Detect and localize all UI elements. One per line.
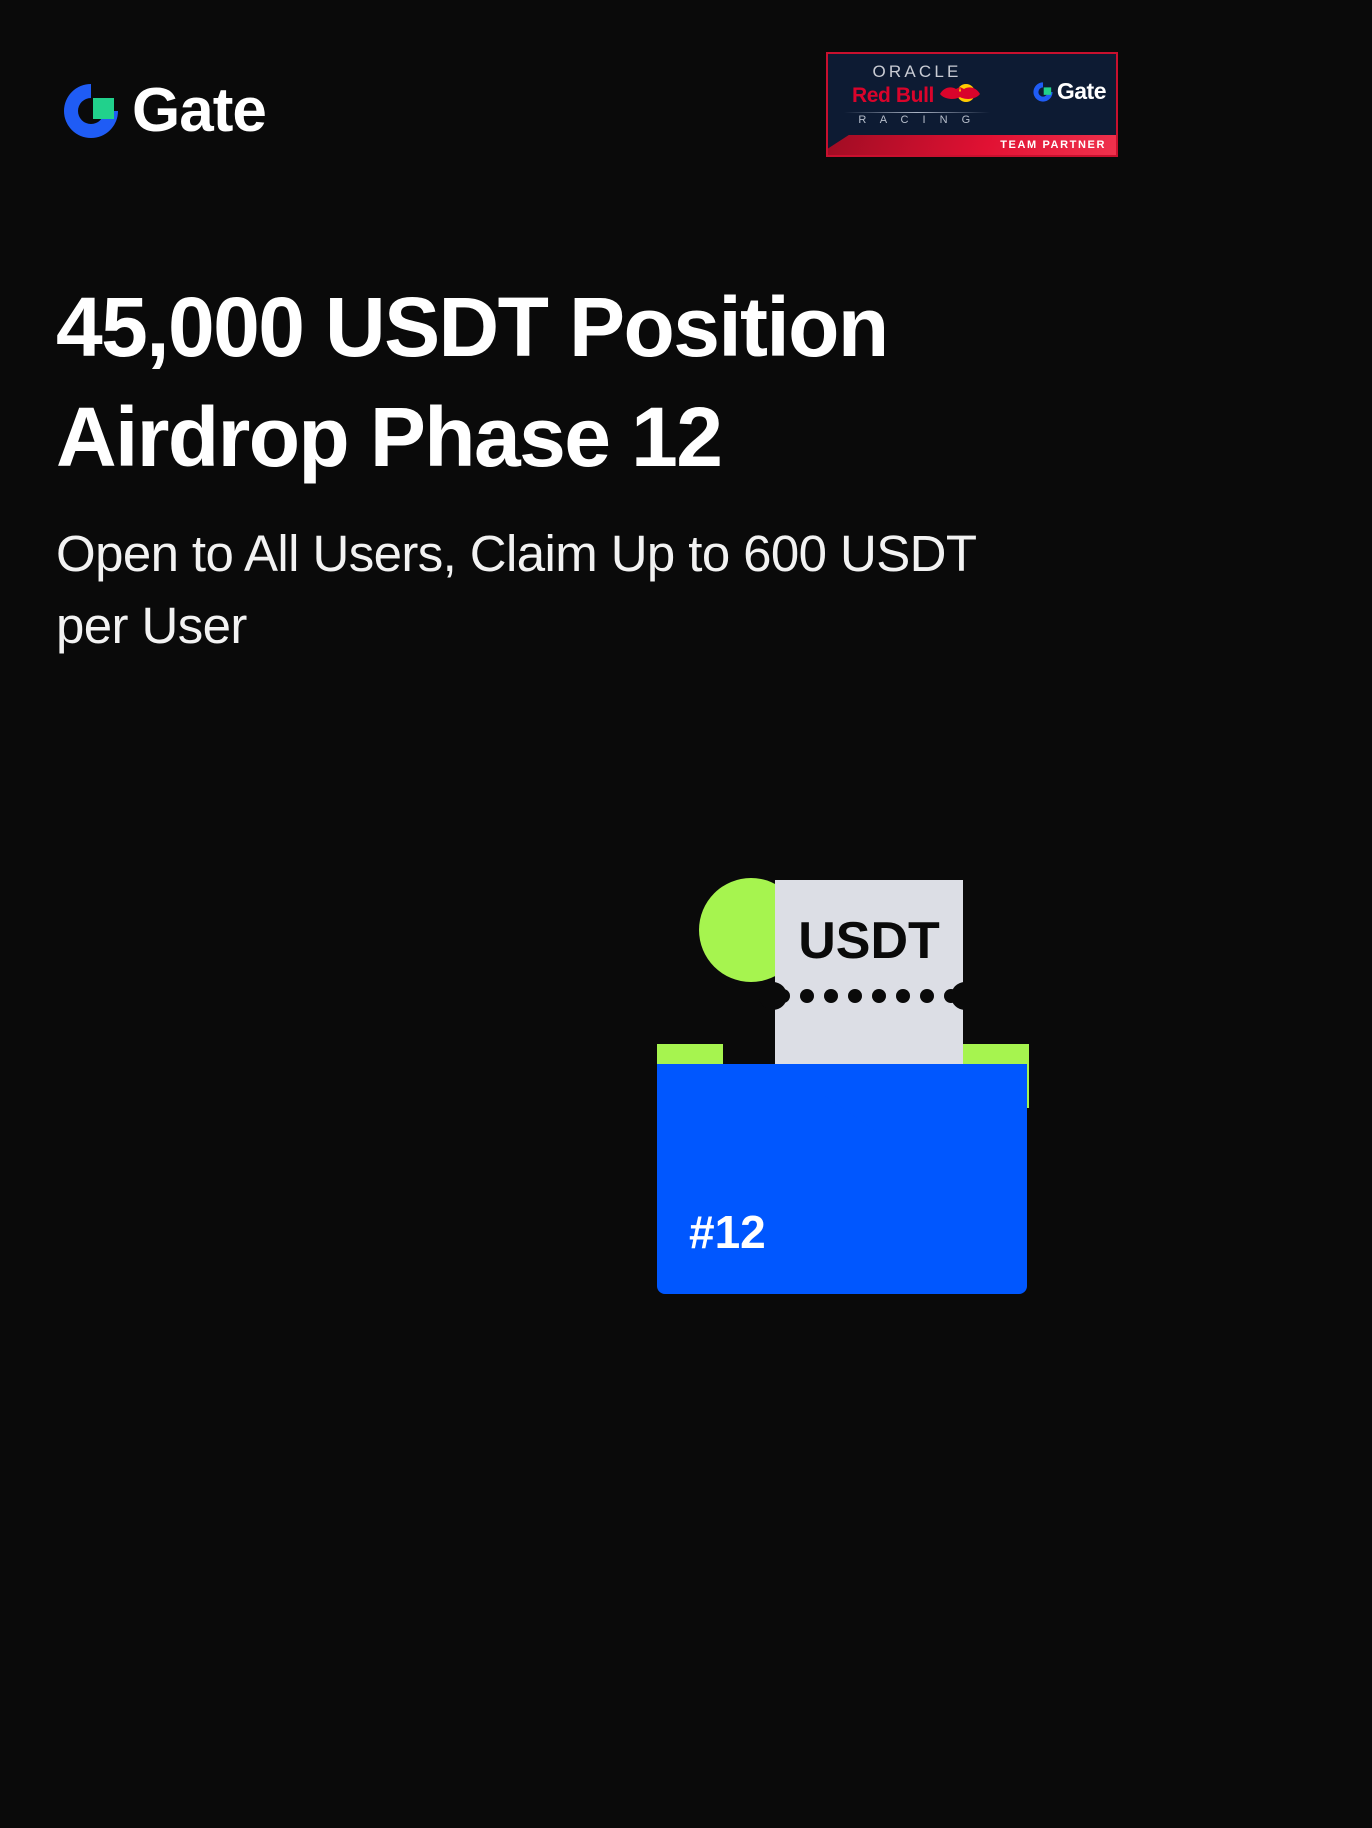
racing-label: R A C I N G [842, 115, 992, 126]
phase-badge-text: #12 [655, 1302, 656, 1303]
badge-divider [844, 112, 990, 113]
badge-gate-wordmark: Gate [1057, 80, 1106, 103]
receipt-label-text: USDT [655, 1302, 656, 1303]
receipt-notch-left [759, 982, 787, 1010]
gate-brand-logo[interactable]: Gate [60, 80, 266, 142]
receipt-notch-right [951, 982, 979, 1010]
gate-wordmark: Gate [132, 80, 266, 142]
red-bull-racing-lockup: ORACLE Red Bull R A C I N G [842, 63, 992, 126]
page-header: Gate ORACLE Red Bull R A C I N G [0, 0, 1372, 200]
page-title: 45,000 USDT Position Airdrop Phase 12 [56, 272, 916, 492]
hero-section: 45,000 USDT Position Airdrop Phase 12 Op… [56, 272, 1066, 662]
red-bull-label: Red Bull [852, 85, 934, 106]
wallet-body: #12 [657, 1064, 1027, 1294]
team-partner-label: TEAM PARTNER [1000, 135, 1106, 155]
page-subtitle: Open to All Users, Claim Up to 600 USDT … [56, 518, 1056, 662]
team-partner-strip: TEAM PARTNER [828, 135, 1116, 155]
usdt-label: USDT [798, 912, 940, 970]
red-bull-charging-bulls-icon [938, 82, 982, 109]
oracle-label: ORACLE [842, 63, 992, 81]
gate-logo-icon [1032, 81, 1054, 103]
oracle-red-bull-racing-partner-badge[interactable]: ORACLE Red Bull R A C I N G [826, 52, 1118, 157]
usdt-voucher-wallet-illustration: USDT #12 USDT #12 [655, 852, 1055, 1302]
gate-logo-icon [60, 80, 122, 142]
phase-badge-label: #12 [689, 1206, 766, 1258]
badge-gate-logo: Gate [1032, 80, 1106, 103]
